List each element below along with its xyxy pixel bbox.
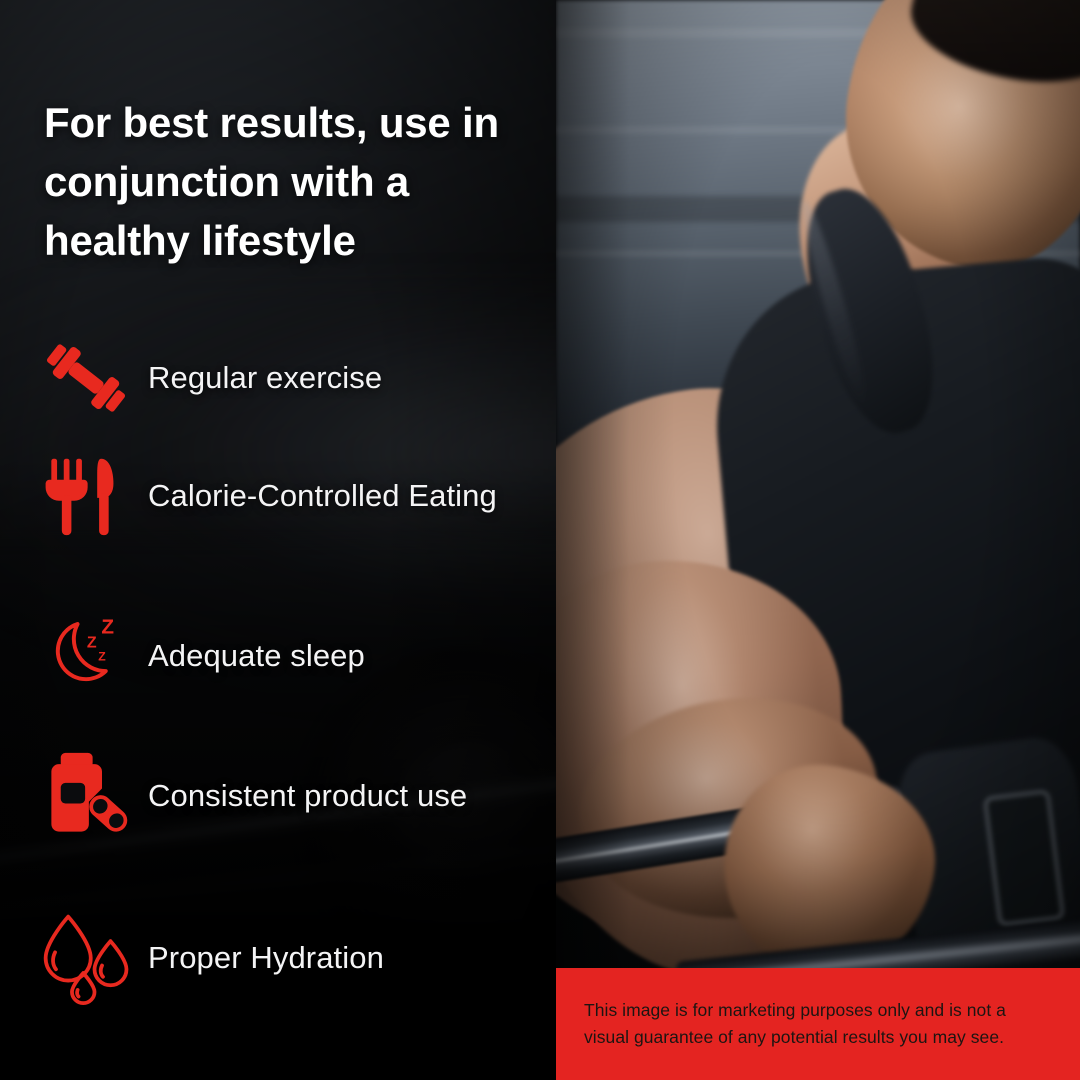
hero-photo: [556, 0, 1080, 1080]
list-item: Proper Hydration: [40, 910, 530, 1006]
svg-text:Z: Z: [87, 635, 97, 652]
list-item-label: Adequate sleep: [148, 632, 365, 681]
list-item: Calorie-Controlled Eating: [40, 448, 530, 544]
water-droplets-icon: [40, 910, 136, 1006]
list-item: Z Z Z Adequate sleep: [40, 608, 530, 704]
list-item-label: Calorie-Controlled Eating: [148, 472, 497, 521]
list-item: Consistent product use: [40, 748, 530, 844]
list-item-label: Proper Hydration: [148, 934, 384, 983]
svg-text:Z: Z: [98, 650, 106, 664]
disclaimer-text: This image is for marketing purposes onl…: [584, 997, 1052, 1050]
list-item-label: Regular exercise: [148, 354, 382, 403]
moon-sleep-icon: Z Z Z: [40, 608, 136, 704]
list-item-label: Consistent product use: [148, 772, 467, 821]
fork-knife-icon: [40, 448, 136, 544]
promo-graphic: For best results, use in conjunction wit…: [0, 0, 1080, 1080]
supplement-bottle-pill-icon: [40, 748, 136, 844]
page-title: For best results, use in conjunction wit…: [44, 94, 514, 270]
list-item: Regular exercise: [40, 330, 530, 426]
svg-text:Z: Z: [101, 615, 114, 638]
left-content-panel: For best results, use in conjunction wit…: [0, 0, 556, 1080]
dumbbell-icon: [40, 330, 136, 426]
disclaimer-banner: This image is for marketing purposes onl…: [556, 968, 1080, 1080]
photo-vignette: [556, 0, 1080, 1080]
